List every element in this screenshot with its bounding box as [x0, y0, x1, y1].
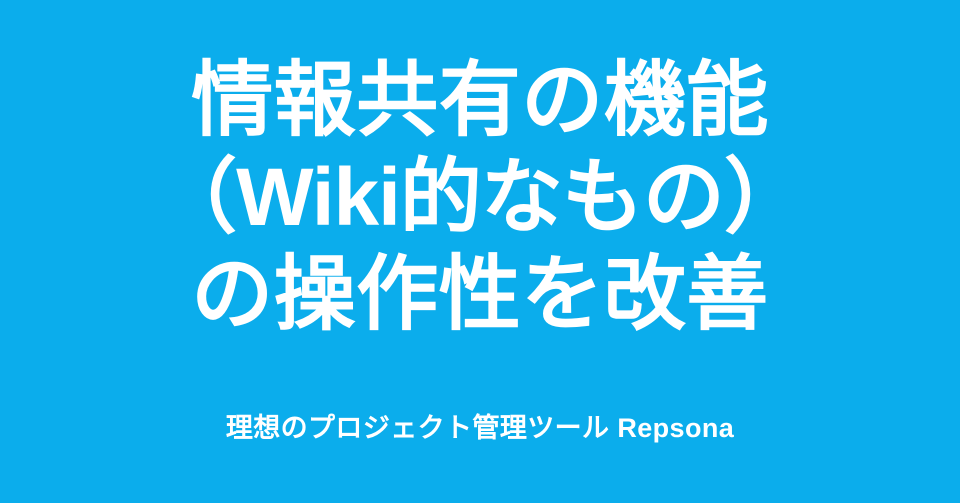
- cover-title: 情報共有の機能 （Wiki的なもの） の操作性を改善: [0, 52, 960, 343]
- article-cover-card: 情報共有の機能 （Wiki的なもの） の操作性を改善 理想のプロジェクト管理ツー…: [0, 0, 960, 503]
- cover-subtitle: 理想のプロジェクト管理ツール Repsona: [226, 411, 734, 445]
- title-line-1: 情報共有の機能: [191, 52, 769, 149]
- title-line-2: （Wiki的なもの）: [155, 149, 805, 246]
- title-line-3: の操作性を改善: [191, 246, 769, 343]
